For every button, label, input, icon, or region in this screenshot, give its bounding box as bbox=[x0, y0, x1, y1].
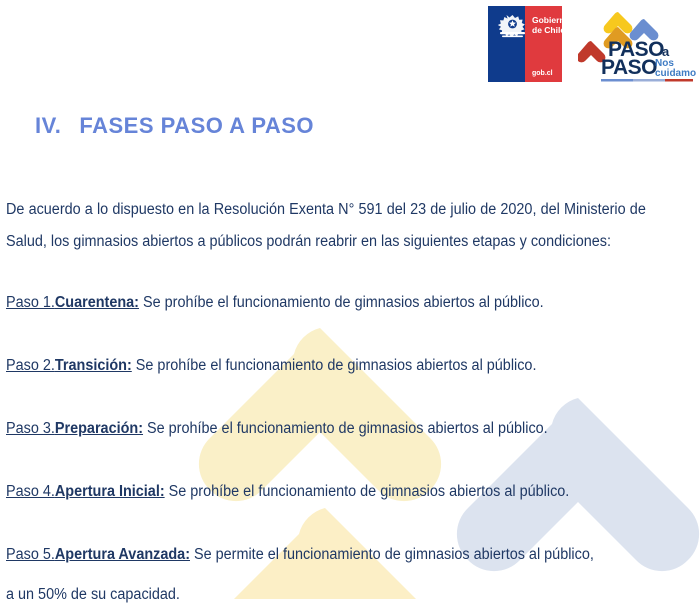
step-2-description: Se prohíbe el funcionamiento de gimnasio… bbox=[136, 357, 537, 374]
section-numeral: IV. bbox=[35, 113, 61, 138]
step-5-lead: Paso 5. bbox=[6, 546, 55, 563]
step-1-phase: Cuarentena: bbox=[55, 294, 139, 311]
step-3-description: Se prohíbe el funcionamiento de gimnasio… bbox=[147, 420, 548, 437]
gob-logo-line2: de Chile bbox=[532, 25, 562, 35]
gob-logo-blue-panel bbox=[488, 6, 525, 82]
paso-logo-underline bbox=[601, 79, 693, 82]
step-2-lead: Paso 2. bbox=[6, 357, 55, 374]
section-heading: IV.FASES PASO A PASO bbox=[35, 113, 314, 139]
gobierno-de-chile-logo: Gobierno de Chile gob.cl bbox=[488, 6, 562, 82]
paso-logo-word-a: a bbox=[662, 44, 670, 59]
step-5-description: Se permite el funcionamiento de gimnasio… bbox=[194, 546, 594, 563]
step-item-2: Paso 2.Transición: Se prohíbe el funcion… bbox=[6, 355, 657, 418]
step-1-lead: Paso 1. bbox=[6, 294, 55, 311]
step-item-4: Paso 4.Apertura Inicial: Se prohíbe el f… bbox=[6, 481, 657, 544]
step-1-description: Se prohíbe el funcionamiento de gimnasio… bbox=[143, 294, 544, 311]
step-3-phase: Preparación: bbox=[55, 420, 143, 437]
step-3-lead: Paso 3. bbox=[6, 420, 55, 437]
paso-a-paso-logo: PASO a PASO Nos cuidamos bbox=[578, 6, 696, 82]
section-title-text: FASES PASO A PASO bbox=[79, 113, 314, 138]
steps-list: Paso 1.Cuarentena: Se prohíbe el funcion… bbox=[6, 292, 657, 607]
gob-logo-url: gob.cl bbox=[532, 70, 553, 77]
step-item-3: Paso 3.Preparación: Se prohíbe el funcio… bbox=[6, 418, 657, 481]
step-5-description-continued: a un 50% de su capacidad. bbox=[6, 584, 657, 606]
step-4-description: Se prohíbe el funcionamiento de gimnasio… bbox=[169, 483, 570, 500]
gob-logo-line1: Gobierno bbox=[532, 15, 562, 25]
header-logos: Gobierno de Chile gob.cl PASO a PASO Nos… bbox=[0, 0, 700, 96]
step-item-5: Paso 5.Apertura Avanzada: Se permite el … bbox=[6, 544, 657, 607]
paso-logo-tag-line2: cuidamos bbox=[655, 68, 696, 79]
step-item-1: Paso 1.Cuarentena: Se prohíbe el funcion… bbox=[6, 292, 657, 355]
intro-paragraph: De acuerdo a lo dispuesto en la Resoluci… bbox=[6, 194, 646, 258]
step-5-phase: Apertura Avanzada: bbox=[55, 546, 190, 563]
step-4-lead: Paso 4. bbox=[6, 483, 55, 500]
paso-logo-word2: PASO bbox=[601, 56, 657, 79]
step-4-phase: Apertura Inicial: bbox=[55, 483, 165, 500]
step-2-phase: Transición: bbox=[55, 357, 132, 374]
